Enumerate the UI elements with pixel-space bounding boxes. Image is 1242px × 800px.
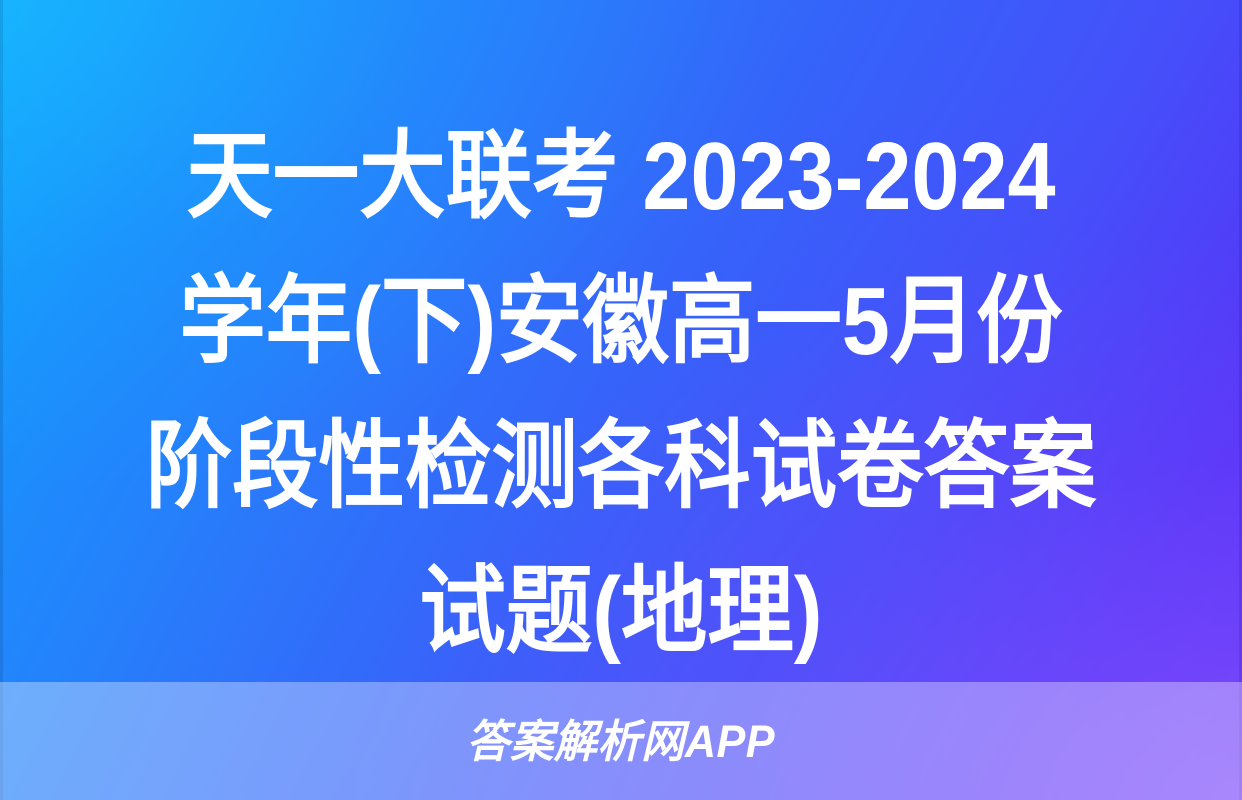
title-line-4: 试题(地理)	[102, 539, 1141, 684]
title-line-3: 阶段性检测各科试卷答案	[102, 394, 1141, 539]
watermark-label: 答案解析网APP	[467, 719, 776, 764]
title-line-2: 学年(下)安徽高一5月份	[102, 249, 1141, 394]
title-line-1: 天一大联考 2023-2024	[102, 104, 1141, 249]
page-title: 天一大联考 2023-2024 学年(下)安徽高一5月份 阶段性检测各科试卷答案…	[0, 104, 1242, 684]
watermark-band: 答案解析网APP	[0, 682, 1242, 800]
poster-canvas: 天一大联考 2023-2024 学年(下)安徽高一5月份 阶段性检测各科试卷答案…	[0, 0, 1242, 800]
